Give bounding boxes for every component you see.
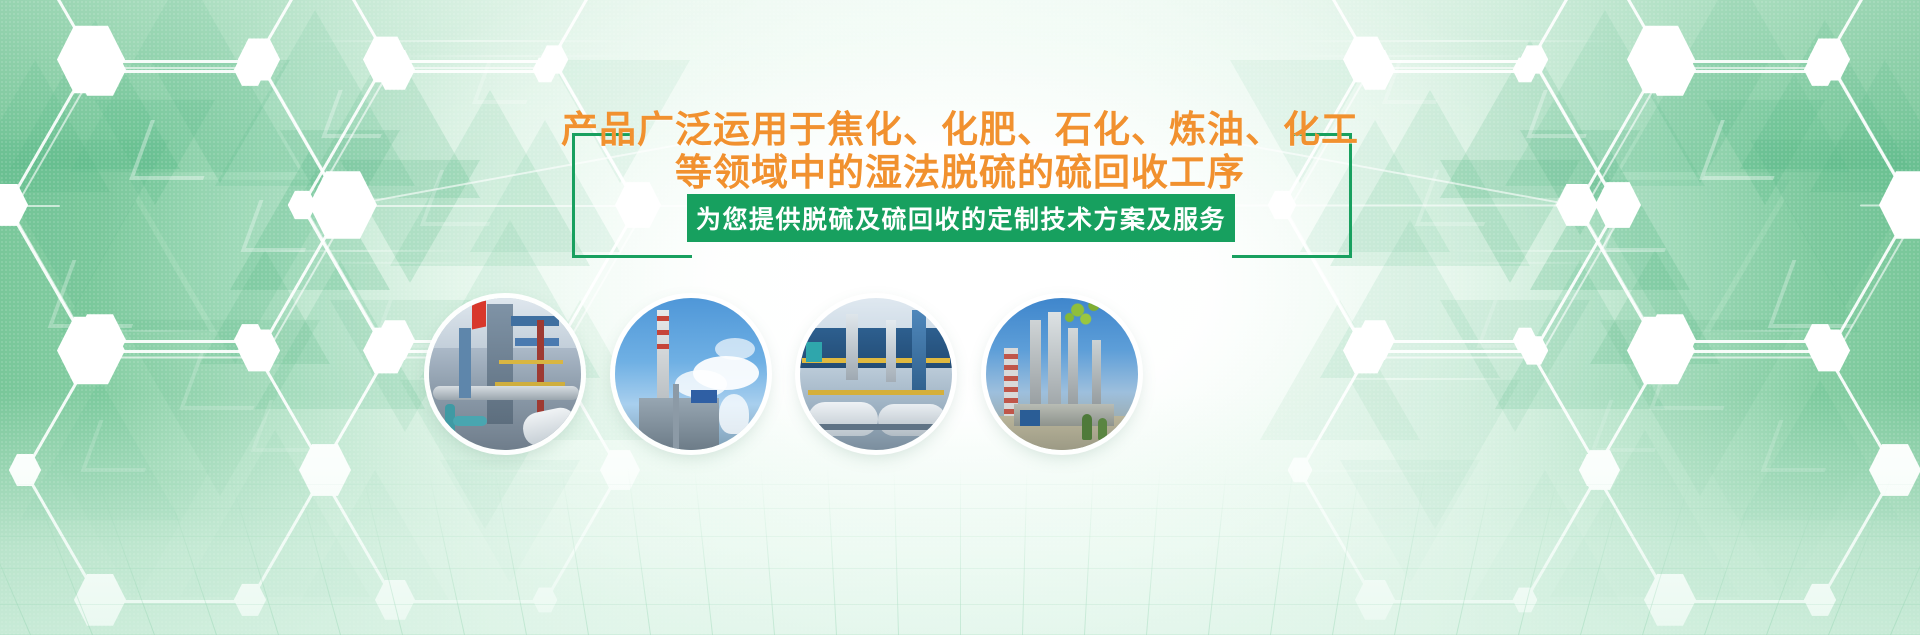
- grid-line-vertical: [827, 465, 837, 635]
- grid-line-vertical: [627, 466, 651, 635]
- photo-content: [800, 298, 952, 450]
- background-perspective-grid: [0, 465, 1920, 635]
- blue-frame-1: [511, 316, 559, 326]
- photo-desulfurization-plant-piping: [429, 298, 581, 450]
- teal-pipe: [445, 404, 455, 450]
- blue-unit: [691, 390, 717, 403]
- grid-line-vertical: [1518, 470, 1560, 635]
- stack-band-1: [657, 316, 669, 321]
- light-streak: [300, 262, 500, 264]
- grid-line-vertical: [1084, 465, 1094, 635]
- grid-line-vertical: [1394, 468, 1427, 635]
- plant-structure: [639, 398, 719, 450]
- photo-refinery-towers: [986, 298, 1138, 450]
- photo-content: [429, 298, 581, 450]
- light-streak: [1450, 250, 1670, 252]
- frame-segment: [1232, 255, 1352, 258]
- grid-line-vertical: [29, 477, 93, 635]
- photo-content: [986, 298, 1138, 450]
- grid-line-vertical: [95, 475, 155, 635]
- grey-pipe-horiz: [433, 386, 579, 400]
- light-streak: [1280, 40, 1620, 42]
- grid-line-horizontal: [0, 508, 1920, 509]
- grid-line-vertical: [1456, 469, 1493, 635]
- blue-tower: [912, 310, 926, 390]
- photo-chimney-stack: [615, 298, 767, 450]
- grid-line-vertical: [893, 465, 899, 635]
- steel-tower: [487, 304, 513, 424]
- yellow-railing: [802, 358, 950, 363]
- grid-line-vertical: [361, 470, 403, 635]
- teal-accent: [806, 342, 822, 362]
- grid-line-vertical: [162, 474, 217, 635]
- grid-line-vertical: [295, 471, 341, 635]
- grid-line-vertical: [1580, 471, 1626, 635]
- grid-line-vertical: [760, 466, 775, 635]
- grid-line-vertical: [494, 468, 527, 635]
- grid-line-vertical: [1146, 466, 1161, 635]
- blue-shed: [1020, 410, 1040, 426]
- yellow-railing-2: [808, 390, 944, 395]
- grid-line-vertical: [428, 469, 465, 635]
- stack-band-2: [657, 330, 669, 335]
- grid-line-vertical: [1270, 466, 1294, 635]
- grid-line-vertical: [960, 465, 961, 635]
- grid-line-vertical: [0, 479, 31, 635]
- headline-line-1: 产品广泛运用于焦化、化肥、石化、炼油、化工: [0, 108, 1920, 151]
- subtitle-text: 为您提供脱硫及硫回收的定制技术方案及服务: [696, 200, 1226, 236]
- light-streak: [60, 330, 240, 332]
- frame-segment: [572, 255, 692, 258]
- tree-1: [1082, 414, 1092, 440]
- light-streak: [1240, 470, 1500, 472]
- steel-column-1: [846, 314, 858, 380]
- subtitle-banner: 为您提供脱硫及硫回收的定制技术方案及服务: [687, 194, 1235, 242]
- tower-lattice: [673, 384, 679, 450]
- tree-2: [1098, 418, 1107, 440]
- yellow-rail: [499, 360, 563, 364]
- photo-sulfur-recovery-tanks: [800, 298, 952, 450]
- page-title: 产品广泛运用于焦化、化肥、石化、炼油、化工 等领域中的湿法脱硫的硫回收工序: [0, 108, 1920, 194]
- grid-line-vertical: [1208, 466, 1227, 635]
- smokestack: [657, 310, 669, 406]
- grid-line-horizontal: [0, 604, 1920, 605]
- grid-line-horizontal: [0, 536, 1920, 537]
- grid-line-vertical: [561, 467, 589, 635]
- grid-line-vertical: [1704, 474, 1759, 635]
- grid-line-vertical: [1332, 467, 1360, 635]
- hero-banner: 产品广泛运用于焦化、化肥、石化、炼油、化工 等领域中的湿法脱硫的硫回收工序 为您…: [0, 0, 1920, 635]
- walkway: [804, 424, 948, 430]
- grid-line-vertical: [1022, 465, 1028, 635]
- steel-column-2: [886, 320, 896, 382]
- horizontal-tank-1: [808, 402, 878, 436]
- grid-line-vertical: [1766, 475, 1826, 635]
- light-streak: [1680, 330, 1860, 332]
- teal-pipe-2: [453, 416, 487, 426]
- horizontal-tank-2: [878, 404, 946, 436]
- light-streak: [1260, 55, 1560, 57]
- light-streak: [1420, 262, 1620, 264]
- headline-line-2: 等领域中的湿法脱硫的硫回收工序: [0, 151, 1920, 194]
- stack-band-3: [657, 344, 669, 349]
- green-foliage: [1056, 298, 1110, 328]
- red-flag: [472, 301, 486, 330]
- blue-column: [459, 328, 471, 398]
- cloud-3: [715, 338, 755, 360]
- light-streak: [300, 40, 640, 42]
- grid-line-horizontal: [0, 484, 1920, 485]
- grid-line-vertical: [694, 466, 713, 635]
- grid-line-vertical: [1828, 477, 1892, 635]
- photo-content: [615, 298, 767, 450]
- grid-line-vertical: [228, 472, 279, 635]
- light-streak: [360, 55, 660, 57]
- steam-plume: [719, 394, 749, 434]
- white-vessel: [520, 405, 580, 449]
- grid-line-horizontal: [0, 568, 1920, 569]
- light-streak: [420, 470, 680, 472]
- light-streak: [250, 250, 470, 252]
- grid-line-vertical: [1642, 472, 1693, 635]
- grid-line-vertical: [1890, 479, 1920, 635]
